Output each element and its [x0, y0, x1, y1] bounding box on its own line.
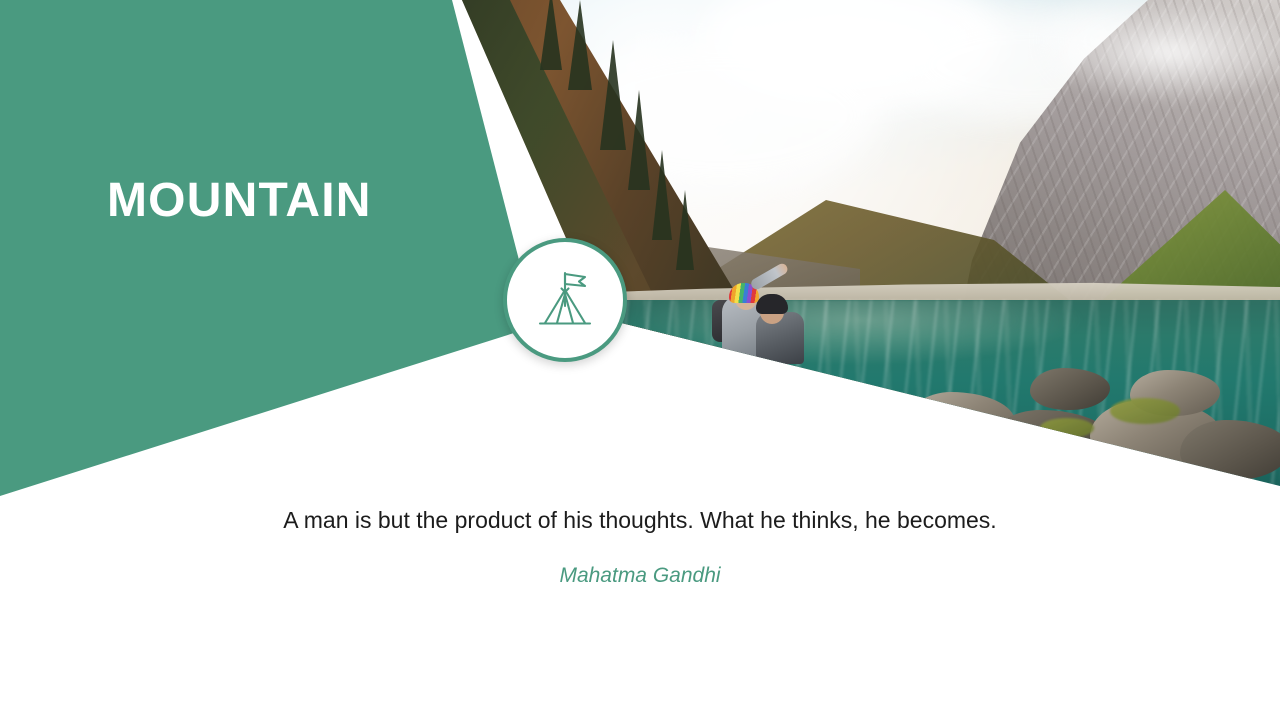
slide-canvas: MOUNTAIN A	[0, 0, 1280, 720]
black-beanie-icon	[756, 294, 788, 314]
quote-author: Mahatma Gandhi	[0, 562, 1280, 589]
fog-patch	[1020, 0, 1280, 130]
shore-rock	[1030, 368, 1110, 410]
tent-with-flag-icon	[528, 263, 602, 337]
quote-block: A man is but the product of his thoughts…	[0, 505, 1280, 589]
quote-text: A man is but the product of his thoughts…	[0, 505, 1280, 536]
shore-rock	[1180, 420, 1280, 480]
moss-patch	[1110, 398, 1180, 424]
page-title: MOUNTAIN	[107, 176, 372, 226]
moss-patch	[1040, 418, 1094, 438]
shore-rock	[905, 392, 1015, 454]
green-accent-panel	[0, 0, 560, 540]
tent-badge	[503, 238, 627, 362]
